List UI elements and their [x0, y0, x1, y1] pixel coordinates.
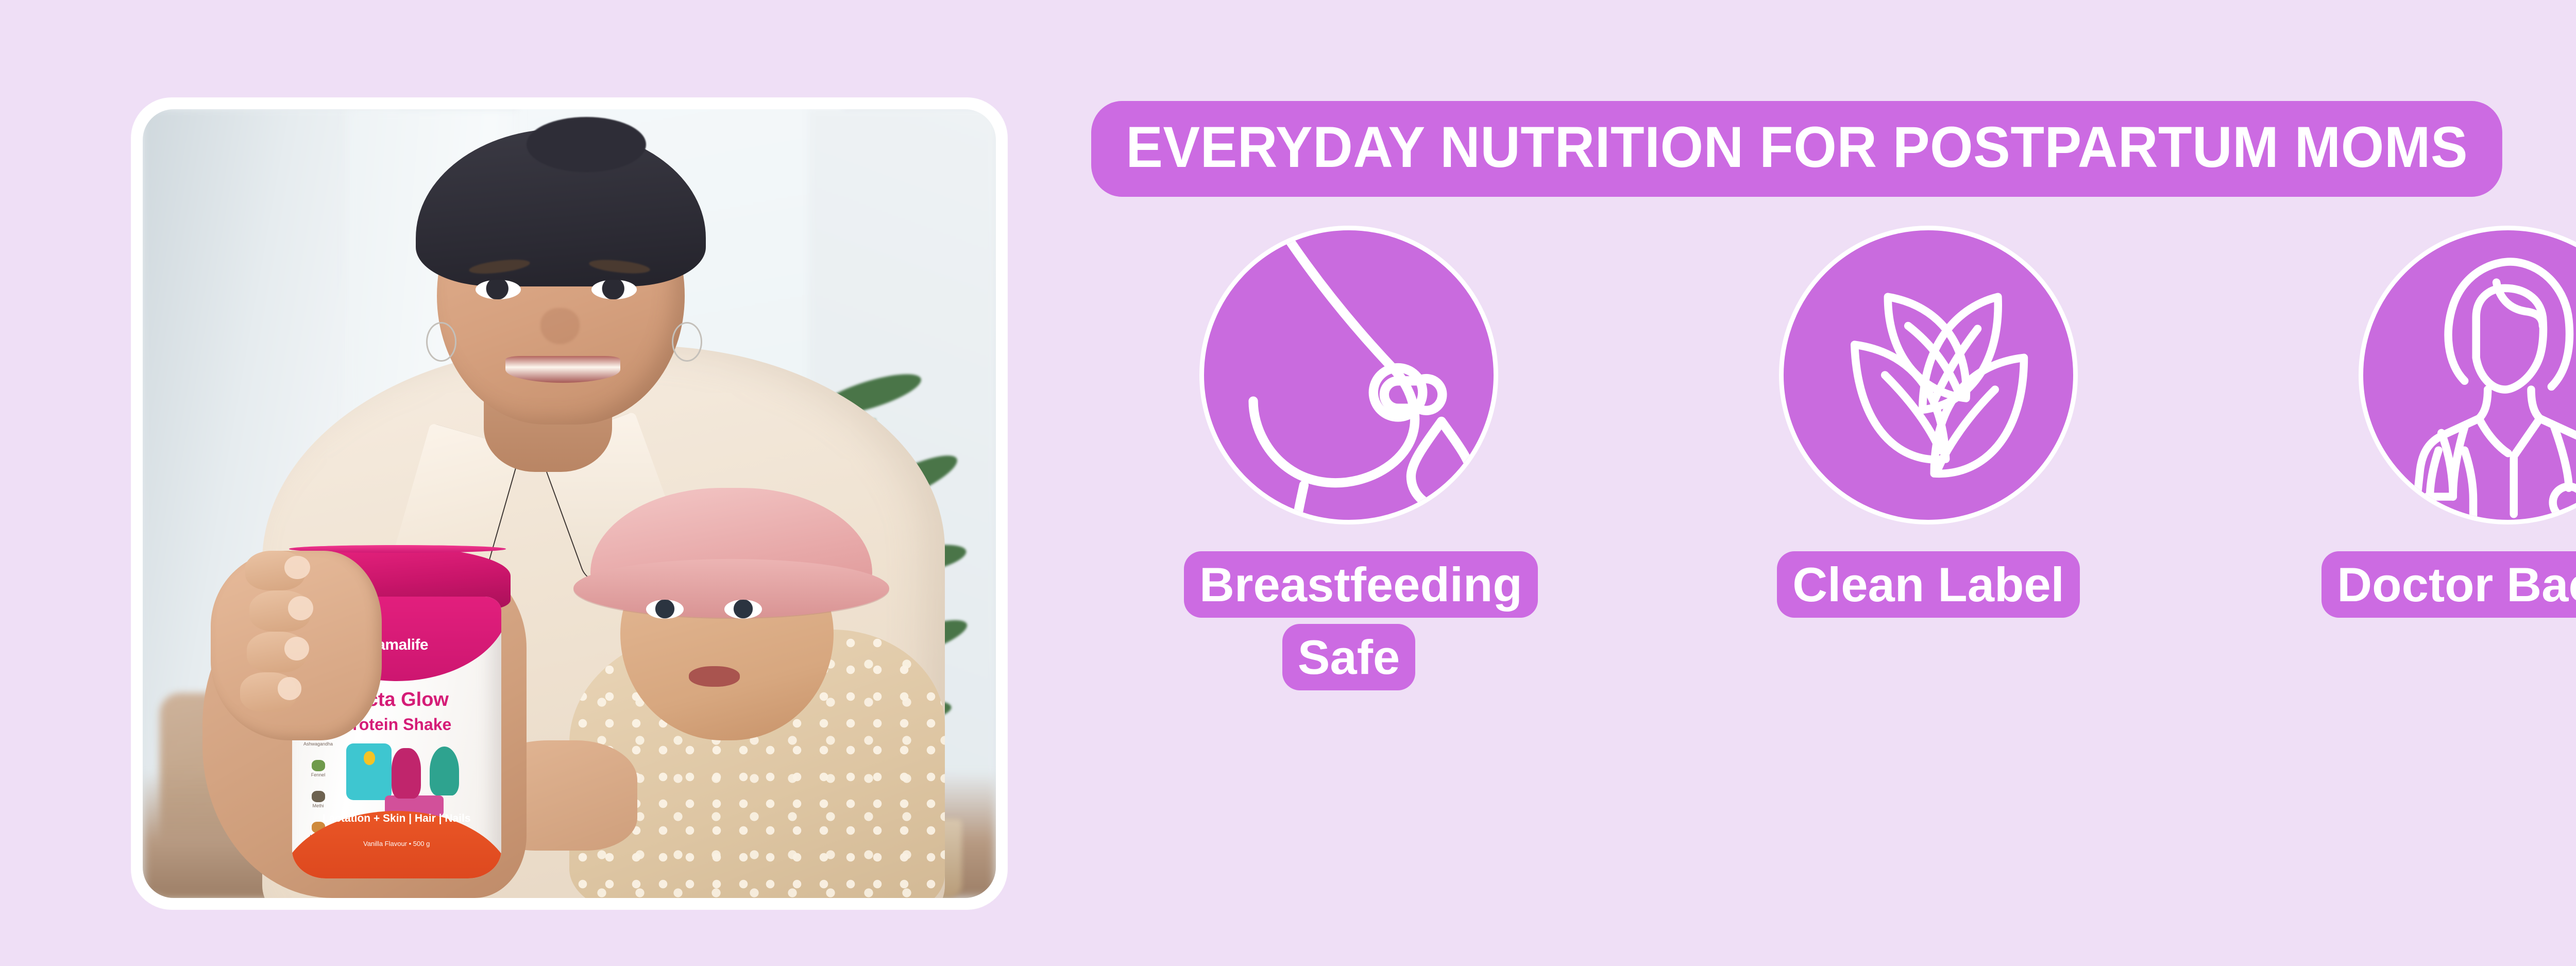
photo-frame: amalife Lacta Glow Protein Shake 7 Power… — [131, 98, 1007, 909]
baby-mouth — [689, 666, 740, 687]
breastfeeding-drop-icon — [1204, 230, 1494, 520]
feature-breastfeeding-safe[interactable]: Breastfeeding Safe — [1091, 226, 1606, 693]
feature-label-breastfeeding-safe: Breastfeeding Safe — [1184, 551, 1538, 690]
fingernail — [278, 677, 301, 700]
feature-label-wrap: Breastfeeding Safe — [1184, 548, 1514, 693]
product-claim: Lactation + Skin | Hair | Nails — [292, 812, 501, 825]
feature-icon-circle — [2359, 226, 2576, 524]
product-meta: Vanilla Flavour • 500 g — [292, 840, 501, 848]
content-pane: EVERYDAY NUTRITION FOR POSTPARTUM MOMS — [1066, 0, 2576, 966]
product-label-illustration — [346, 740, 459, 819]
feature-label-doctor-backed: Doctor Backed — [2321, 551, 2576, 618]
ingredient-label: Fennel — [311, 772, 326, 777]
baby-eye-left — [646, 600, 684, 619]
ingredient-item: Fennel — [302, 760, 334, 777]
leaves-plant-icon — [1784, 230, 2073, 520]
fingernail — [284, 637, 309, 660]
feature-icon-circle — [1199, 226, 1498, 524]
feature-clean-label[interactable]: Clean Label — [1671, 226, 2186, 621]
ingredient-label: Methi — [312, 803, 324, 808]
hoop-earring-left — [426, 322, 456, 361]
illustration-window — [346, 743, 392, 800]
lifestyle-photo: amalife Lacta Glow Protein Shake 7 Power… — [143, 109, 996, 898]
mother-smile — [505, 356, 621, 383]
mother-eye-right — [591, 280, 637, 299]
female-doctor-stethoscope-icon — [2363, 230, 2576, 520]
promo-banner: amalife Lacta Glow Protein Shake 7 Power… — [0, 0, 2576, 966]
mother-nose — [540, 308, 580, 344]
hoop-earring-right — [672, 322, 702, 361]
fingernail — [288, 596, 314, 620]
feature-label-clean-label: Clean Label — [1777, 551, 2080, 618]
ingredient-item: Methi — [302, 791, 334, 808]
mother-eye-left — [476, 280, 521, 299]
ingredient-label: Ashwagandha — [303, 741, 333, 747]
product-brand-name: amalife — [377, 636, 428, 653]
illustration-plant — [430, 747, 459, 795]
feature-row: Breastfeeding Safe — [1091, 226, 2576, 693]
ingredient-icon — [312, 760, 325, 771]
headline-banner: EVERYDAY NUTRITION FOR POSTPARTUM MOMS — [1091, 101, 2502, 197]
mother-hair-bun — [527, 117, 646, 172]
photo-pane: amalife Lacta Glow Protein Shake 7 Power… — [0, 0, 1066, 966]
baby-eye-right — [724, 600, 762, 619]
fingernail — [284, 556, 310, 580]
illustration-mother — [392, 748, 421, 799]
feature-icon-circle — [1779, 226, 2078, 524]
feature-label-wrap: Clean Label — [1777, 548, 2080, 621]
feature-doctor-backed[interactable]: Doctor Backed — [2250, 226, 2576, 621]
feature-label-wrap: Doctor Backed — [2321, 548, 2576, 621]
ingredient-icon — [312, 791, 325, 802]
